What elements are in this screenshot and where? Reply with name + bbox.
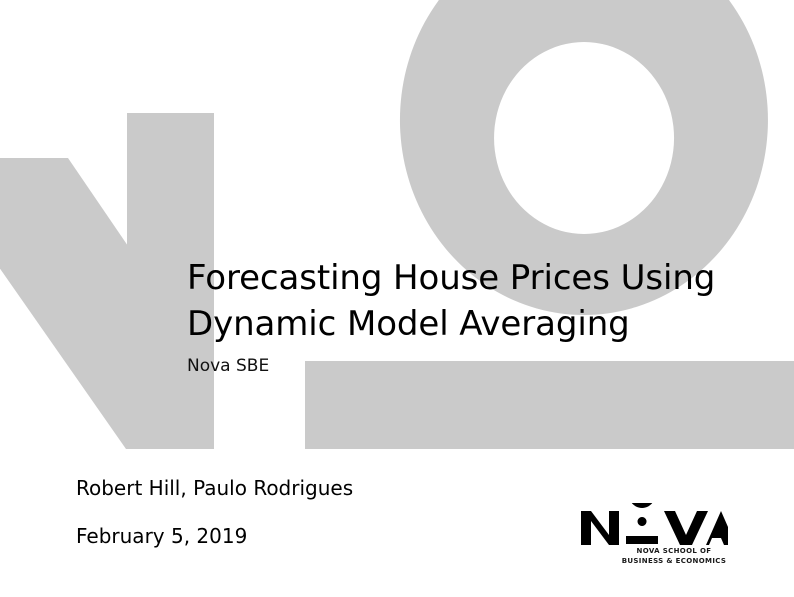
title-slide: Forecasting House Prices Using Dynamic M… (0, 0, 794, 597)
logo-tagline-line-2: BUSINESS & ECONOMICS (614, 557, 734, 567)
author-names: Robert Hill, Paulo Rodrigues (76, 474, 556, 502)
author-block: Robert Hill, Paulo Rodrigues February 5,… (76, 474, 556, 550)
nova-sbe-logo: NOVA SCHOOL OF BUSINESS & ECONOMICS (578, 503, 728, 571)
logo-tagline-line-1: NOVA SCHOOL OF (614, 547, 734, 557)
title-block: Forecasting House Prices Using Dynamic M… (187, 255, 787, 379)
institution-subtitle: Nova SBE (187, 353, 787, 379)
watermark-n-diagonal (0, 158, 214, 449)
presentation-date: February 5, 2019 (76, 522, 556, 550)
nova-wordmark-icon (578, 503, 728, 547)
title-line-2: Dynamic Model Averaging (187, 301, 787, 347)
logo-tagline: NOVA SCHOOL OF BUSINESS & ECONOMICS (614, 547, 734, 566)
title-line-1: Forecasting House Prices Using (187, 255, 787, 301)
